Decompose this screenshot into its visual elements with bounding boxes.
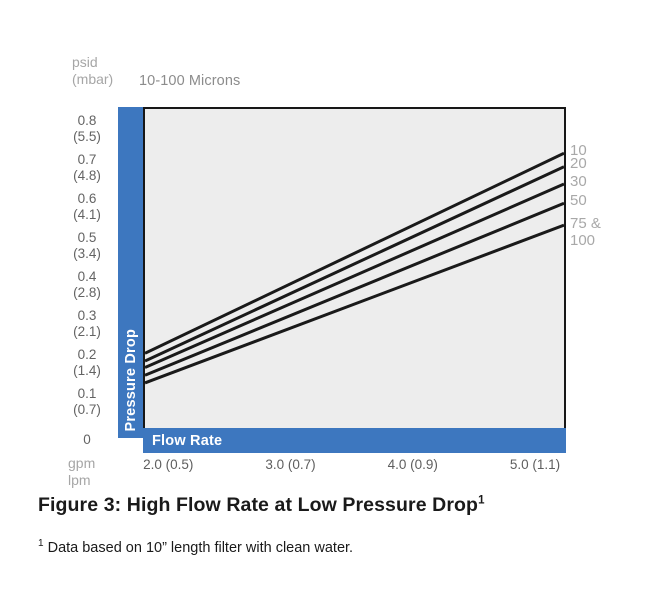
figure-caption-text: Figure 3: High Flow Rate at Low Pressure… [38, 494, 478, 516]
y-tick-secondary: (3.4) [62, 246, 112, 262]
y-tick-secondary: (1.4) [62, 363, 112, 379]
series-line-50 [145, 203, 564, 375]
series-label-30: 30 [570, 173, 587, 190]
x-tick-label: 2.0 (0.5) [143, 457, 193, 472]
y-axis-title-text: Pressure Drop [123, 329, 139, 432]
figure-container: psid (mbar) 10-100 Microns 0.8(5.5)0.7(4… [0, 0, 650, 615]
x-axis-tick-labels: 2.0 (0.5)3.0 (0.7)4.0 (0.9)5.0 (1.1) [143, 457, 573, 477]
y-tick-secondary: (0.7) [62, 402, 112, 418]
y-tick-primary: 0.2 [62, 347, 112, 363]
y-tick-label: 0.2(1.4) [62, 347, 112, 378]
figure-footnote-text: Data based on 10” length filter with cle… [44, 540, 354, 556]
series-label-75-100: 75 & 100 [570, 215, 601, 249]
series-line-75-100 [145, 225, 564, 383]
figure-caption-superscript: 1 [478, 495, 485, 507]
y-tick-label: 0.6(4.1) [62, 191, 112, 222]
series-line-20 [145, 167, 564, 361]
y-tick-primary: 0.5 [62, 230, 112, 246]
x-tick-label: 5.0 (1.1) [510, 457, 560, 472]
y-tick-secondary: (4.8) [62, 168, 112, 184]
plot-lines [145, 109, 564, 436]
chart-title: 10-100 Microns [139, 73, 240, 89]
y-tick-primary: 0 [62, 432, 112, 448]
y-tick-label: 0.7(4.8) [62, 152, 112, 183]
series-line-30 [145, 184, 564, 368]
y-tick-primary: 0.3 [62, 308, 112, 324]
y-tick-primary: 0.8 [62, 113, 112, 129]
figure-caption: Figure 3: High Flow Rate at Low Pressure… [38, 494, 485, 517]
y-tick-label: 0.3(2.1) [62, 308, 112, 339]
y-tick-secondary: (2.8) [62, 285, 112, 301]
x-axis-title-text: Flow Rate [152, 433, 222, 449]
series-line-10 [145, 153, 564, 353]
y-tick-secondary: (5.5) [62, 129, 112, 145]
x-tick-label: 4.0 (0.9) [388, 457, 438, 472]
y-tick-primary: 0.1 [62, 386, 112, 402]
figure-footnote: 1 Data based on 10” length filter with c… [38, 538, 353, 556]
plot-area [143, 107, 566, 438]
y-tick-label: 0 [62, 432, 112, 448]
y-tick-primary: 0.6 [62, 191, 112, 207]
y-tick-label: 0.5(3.4) [62, 230, 112, 261]
y-tick-secondary: (4.1) [62, 207, 112, 223]
y-axis-tick-labels: 0.8(5.5)0.7(4.8)0.6(4.1)0.5(3.4)0.4(2.8)… [62, 100, 112, 440]
series-label-20: 20 [570, 155, 587, 172]
y-tick-primary: 0.7 [62, 152, 112, 168]
x-axis-title: Flow Rate [152, 428, 222, 453]
y-tick-primary: 0.4 [62, 269, 112, 285]
y-tick-label: 0.4(2.8) [62, 269, 112, 300]
series-legend: 1020305075 & 100 [570, 107, 646, 438]
x-axis-units-label: gpm lpm [68, 455, 95, 489]
y-tick-label: 0.1(0.7) [62, 386, 112, 417]
y-tick-label: 0.8(5.5) [62, 113, 112, 144]
y-axis-units-label: psid (mbar) [72, 54, 113, 88]
y-tick-secondary: (2.1) [62, 324, 112, 340]
x-tick-label: 3.0 (0.7) [265, 457, 315, 472]
y-axis-title: Pressure Drop [118, 107, 144, 438]
series-label-50: 50 [570, 192, 587, 209]
